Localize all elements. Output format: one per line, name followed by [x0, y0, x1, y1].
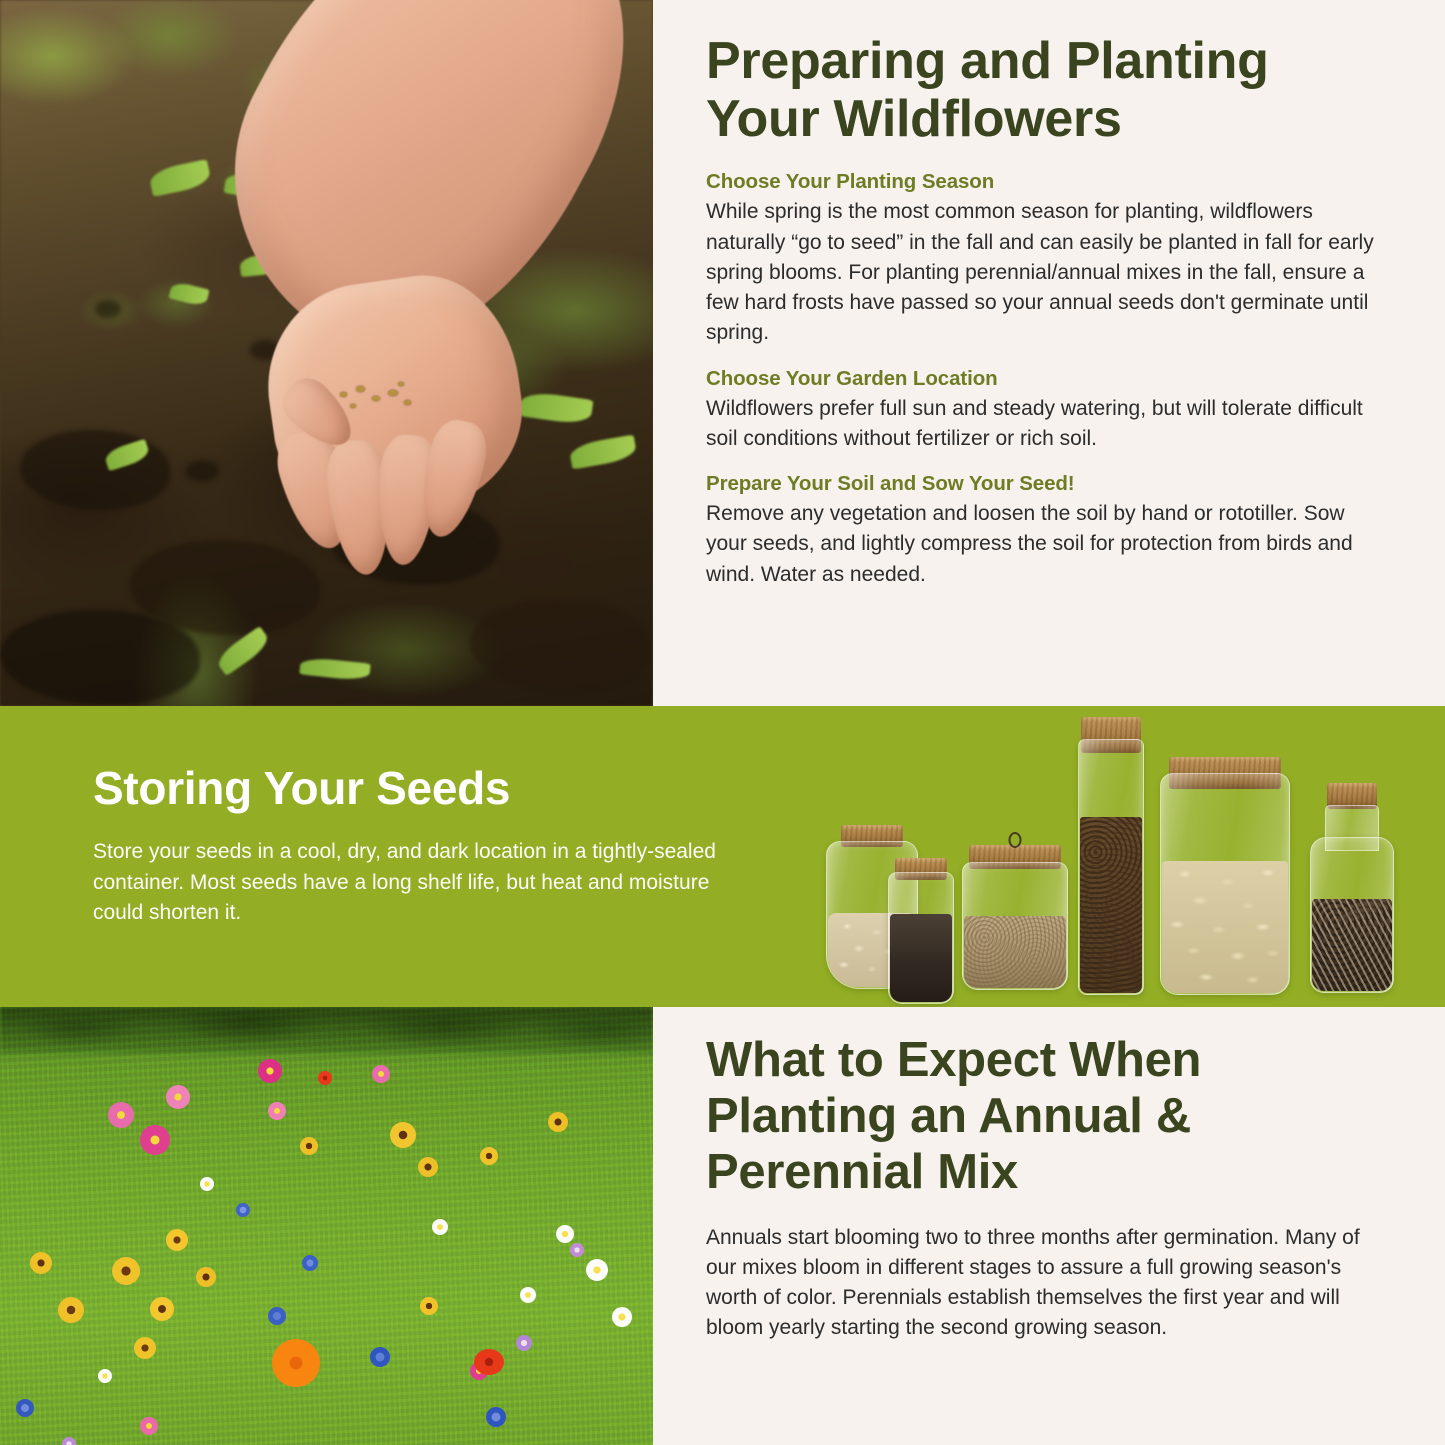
jar-pumpkin-seeds [1160, 773, 1290, 995]
hand-sowing-seeds-photo [0, 0, 653, 706]
subheading-planting-season: Choose Your Planting Season [706, 170, 1383, 194]
band-text-block: Storing Your Seeds Store your seeds in a… [93, 761, 723, 929]
bottom-text-column: What to Expect When Planting an Annual &… [653, 1007, 1445, 1445]
storing-seeds-band: Storing Your Seeds Store your seeds in a… [0, 706, 1445, 1007]
seed [388, 390, 398, 396]
body-planting-season: While spring is the most common season f… [706, 197, 1383, 348]
flower-coreopsis [150, 1297, 174, 1321]
seed [404, 400, 411, 405]
flower-coreopsis [112, 1257, 140, 1285]
flower-coreopsis [58, 1297, 84, 1323]
bottom-title: What to Expect When Planting an Annual &… [706, 1033, 1383, 1201]
flower-coreopsis [30, 1252, 52, 1274]
seed [340, 392, 347, 397]
band-body: Store your seeds in a cool, dry, and dar… [93, 837, 723, 929]
flower-daisy-white [200, 1177, 214, 1191]
flower-daisy-white [520, 1287, 536, 1303]
flower-cosmos-pink [166, 1085, 190, 1109]
flower-cornflower-blue [486, 1407, 506, 1427]
band-title: Storing Your Seeds [93, 761, 723, 815]
flower-coreopsis [134, 1337, 156, 1359]
flower-orange-poppy [272, 1339, 320, 1387]
body-prepare-soil: Remove any vegetation and loosen the soi… [706, 499, 1383, 590]
bottom-section: What to Expect When Planting an Annual &… [0, 1007, 1445, 1445]
flower-blackeyed-susan [418, 1157, 438, 1177]
flower-daisy-white [556, 1225, 574, 1243]
seed [372, 396, 380, 401]
top-section: Preparing and Planting Your Wildflowers … [0, 0, 1445, 706]
flower-purple-small [62, 1437, 76, 1445]
flower-purple-small [570, 1243, 584, 1257]
cork-pull-loop [1009, 832, 1022, 848]
flower-cosmos-pink [140, 1417, 158, 1435]
flower-daisy-white [98, 1369, 112, 1383]
infographic-page: Preparing and Planting Your Wildflowers … [0, 0, 1445, 1445]
flower-purple-small [516, 1335, 532, 1351]
seed-jars-photo [820, 706, 1445, 1007]
flower-cosmos-pink [108, 1102, 134, 1128]
flower-cornflower-blue [302, 1255, 318, 1271]
flower-cosmos-pink [268, 1102, 286, 1120]
jar-contents [1312, 899, 1392, 991]
jar-contents [964, 916, 1066, 988]
flower-blackeyed-susan [300, 1137, 318, 1155]
flower-cornflower-blue [268, 1307, 286, 1325]
flower-cornflower-blue [16, 1399, 34, 1417]
body-garden-location: Wildflowers prefer full sun and steady w… [706, 394, 1383, 454]
soil-speck [95, 300, 121, 318]
jar-black-seed [888, 872, 954, 1004]
flower-coreopsis [196, 1267, 216, 1287]
subheading-garden-location: Choose Your Garden Location [706, 367, 1383, 391]
jar-tan-grain [962, 862, 1068, 990]
top-text-column: Preparing and Planting Your Wildflowers … [653, 0, 1445, 706]
seed [398, 382, 404, 386]
flower-coreopsis [166, 1229, 188, 1251]
bottom-body: Annuals start blooming two to three mont… [706, 1223, 1383, 1344]
soil-speck [185, 460, 219, 482]
seed [350, 404, 356, 408]
flower-red-poppy [318, 1071, 332, 1085]
flower-daisy-white [432, 1219, 448, 1235]
flower-blackeyed-susan [480, 1147, 498, 1165]
flower-daisy-white [612, 1307, 632, 1327]
jar-tall-dark-seed [1078, 739, 1144, 995]
flower-blackeyed-susan [390, 1122, 416, 1148]
flower-cornflower-blue [236, 1203, 250, 1217]
flower-daisy-white [586, 1259, 608, 1281]
jar-contents [890, 914, 952, 1002]
flower-cosmos-pink [372, 1065, 390, 1083]
wildflower-meadow-photo [0, 1007, 653, 1445]
flower-red-poppy [474, 1349, 504, 1375]
flower-cornflower-blue [370, 1347, 390, 1367]
flower-blackeyed-susan [420, 1297, 438, 1315]
subheading-prepare-soil: Prepare Your Soil and Sow Your Seed! [706, 472, 1383, 496]
flower-blackeyed-susan [548, 1112, 568, 1132]
jar-contents [1162, 861, 1288, 993]
seed [356, 386, 365, 392]
jar-sunflower-seeds [1310, 797, 1394, 993]
flower-cosmos-pink [258, 1059, 282, 1083]
page-title: Preparing and Planting Your Wildflowers [706, 32, 1383, 148]
flower-cosmos-pink [140, 1125, 170, 1155]
jar-contents [1080, 817, 1142, 993]
